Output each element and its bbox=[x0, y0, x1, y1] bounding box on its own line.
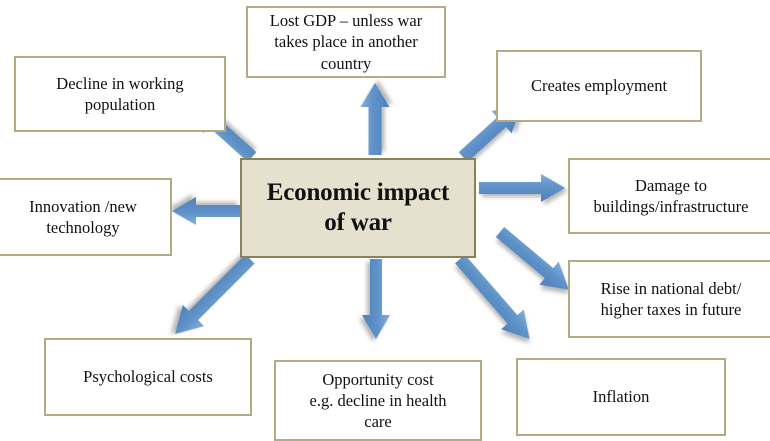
node-psychological-costs[interactable]: Psychological costs bbox=[44, 338, 252, 416]
node-opportunity-cost[interactable]: Opportunity cost e.g. decline in health … bbox=[274, 360, 482, 441]
node-rise-national-debt[interactable]: Rise in national debt/ higher taxes in f… bbox=[568, 260, 770, 338]
arrow-up-lost-gdp-icon bbox=[361, 83, 390, 155]
node-decline-working-population[interactable]: Decline in working population bbox=[14, 56, 226, 132]
node-innovation-new-technology-label: Innovation /new technology bbox=[4, 196, 162, 238]
node-lost-gdp-label: Lost GDP – unless war takes place in ano… bbox=[256, 10, 436, 73]
node-psychological-costs-label: Psychological costs bbox=[54, 366, 242, 387]
node-inflation[interactable]: Inflation bbox=[516, 358, 726, 436]
arrow-down-opportunity-icon bbox=[362, 259, 390, 339]
node-inflation-label: Inflation bbox=[526, 386, 716, 407]
node-decline-working-population-label: Decline in working population bbox=[24, 73, 216, 115]
diagram-canvas: Lost GDP – unless war takes place in ano… bbox=[0, 0, 770, 441]
node-creates-employment[interactable]: Creates employment bbox=[496, 50, 702, 122]
node-opportunity-cost-label: Opportunity cost e.g. decline in health … bbox=[284, 369, 472, 432]
node-rise-national-debt-label: Rise in national debt/ higher taxes in f… bbox=[578, 278, 764, 320]
node-creates-employment-label: Creates employment bbox=[506, 75, 692, 96]
arrow-down-left-psychological-icon bbox=[164, 248, 260, 344]
node-damage-buildings[interactable]: Damage to buildings/infrastructure bbox=[568, 158, 770, 234]
arrow-down-right-inflation-icon bbox=[449, 249, 541, 349]
node-center-economic-impact-of-war[interactable]: Economic impact of war bbox=[240, 158, 476, 258]
arrow-right-damage-icon bbox=[479, 174, 565, 202]
node-damage-buildings-label: Damage to buildings/infrastructure bbox=[578, 175, 764, 217]
arrow-down-right-debt-icon bbox=[490, 221, 578, 302]
arrow-left-innovation-icon bbox=[172, 197, 240, 225]
node-lost-gdp[interactable]: Lost GDP – unless war takes place in ano… bbox=[246, 6, 446, 78]
node-innovation-new-technology[interactable]: Innovation /new technology bbox=[0, 178, 172, 256]
node-center-label: Economic impact of war bbox=[250, 178, 466, 238]
